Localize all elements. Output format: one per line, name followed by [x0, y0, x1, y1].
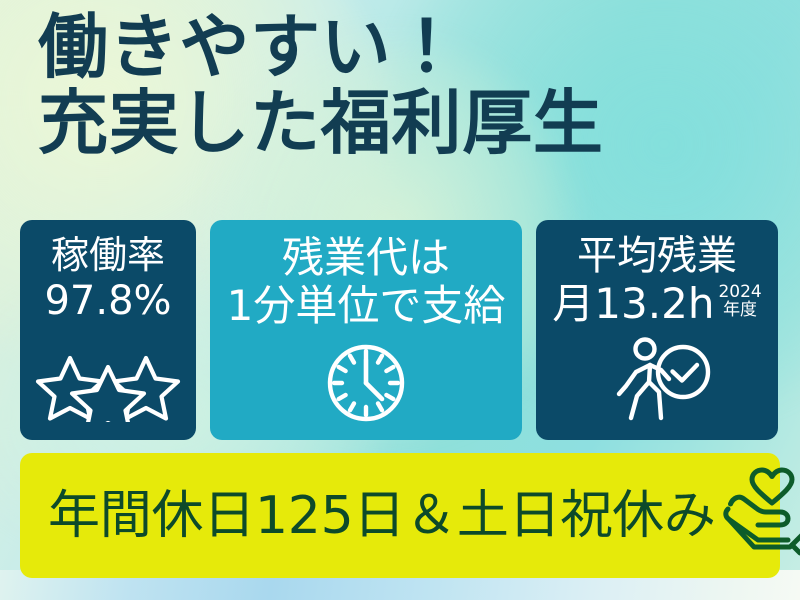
- stat-card-year-note: 2024 年度: [718, 283, 761, 320]
- hand-holding-heart-icon: [722, 467, 800, 565]
- headline-line-1: 働きやすい！: [38, 10, 768, 86]
- stat-card-value: 1分単位で支給: [227, 283, 506, 329]
- stat-card-title: 稼働率: [51, 234, 165, 277]
- three-stars-icon: [32, 354, 184, 426]
- stat-card-title: 平均残業: [577, 234, 737, 279]
- holiday-banner-text: 年間休日125日＆土日祝休み: [48, 490, 716, 542]
- stat-card-value: 97.8%: [44, 279, 171, 323]
- headline-line-2: 充実した福利厚生: [38, 86, 768, 162]
- stat-card-utilization-rate: 稼働率 97.8%: [20, 220, 196, 440]
- holiday-banner: 年間休日125日＆土日祝休み: [20, 453, 780, 578]
- stat-card-title: 残業代は: [282, 234, 450, 281]
- stat-card-row: 稼働率 97.8% 残業代は 1分単位で支給: [20, 220, 780, 440]
- page-title: 働きやすい！ 充実した福利厚生: [38, 10, 768, 161]
- stat-card-year-unit: 年度: [723, 301, 757, 319]
- poster-canvas: 働きやすい！ 充実した福利厚生 稼働率 97.8% 残業代は 1分単位で支給: [0, 0, 800, 600]
- stat-card-year: 2024: [718, 283, 761, 301]
- runner-with-clock-icon: [603, 334, 711, 430]
- stat-card-value-row: 月13.2h 2024 年度: [552, 281, 761, 327]
- stat-card-overtime-pay: 残業代は 1分単位で支給: [210, 220, 522, 440]
- clock-icon: [323, 340, 409, 430]
- stat-card-value: 月13.2h: [552, 281, 714, 327]
- stat-card-average-overtime: 平均残業 月13.2h 2024 年度: [536, 220, 778, 440]
